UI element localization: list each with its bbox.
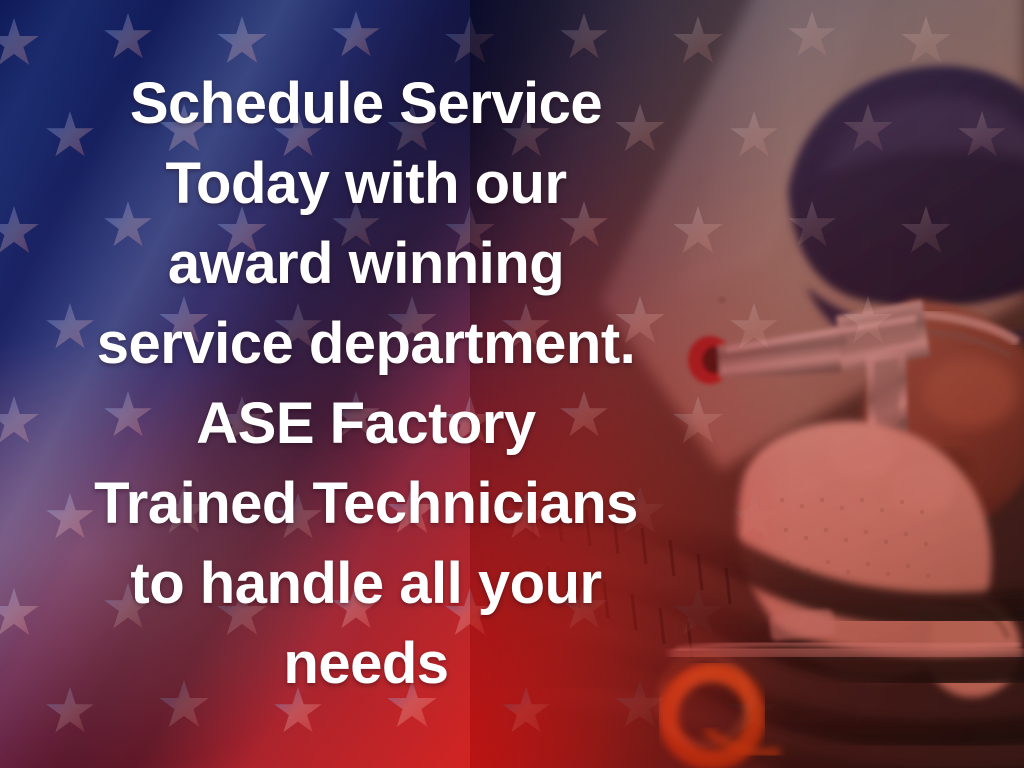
headline-line-2: Today with our	[26, 144, 706, 224]
headline-line-4: service department.	[26, 304, 706, 384]
headline-line-6: Trained Technicians	[26, 464, 706, 544]
headline-line-5: ASE Factory	[26, 384, 706, 464]
headline-line-8: needs	[26, 624, 706, 704]
promo-banner: Schedule Service Today with our award wi…	[0, 0, 1024, 768]
headline-line-7: to handle all your	[26, 544, 706, 624]
headline: Schedule Service Today with our award wi…	[26, 64, 706, 704]
headline-line-3: award winning	[26, 224, 706, 304]
headline-line-1: Schedule Service	[26, 64, 706, 144]
